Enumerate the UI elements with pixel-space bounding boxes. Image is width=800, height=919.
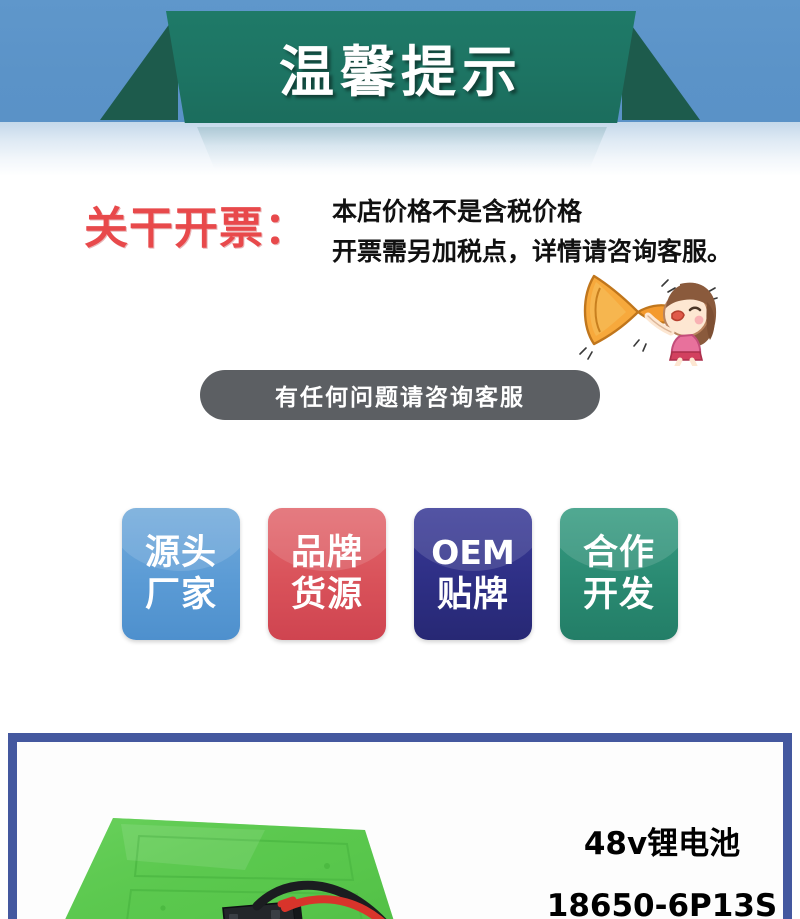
badge-oem[interactable]: OEM 贴牌 bbox=[414, 508, 532, 640]
badge-line-1: 合作 bbox=[583, 532, 655, 574]
badge-source-factory[interactable]: 源头 厂家 bbox=[122, 508, 240, 640]
product-model: 18650-6P13S bbox=[537, 886, 783, 919]
badge-line-1: 品牌 bbox=[291, 532, 363, 574]
badge-line-2: 开发 bbox=[583, 574, 655, 616]
badge-cooperation[interactable]: 合作 开发 bbox=[560, 508, 678, 640]
contact-service-button[interactable]: 有任何问题请咨询客服 bbox=[200, 370, 600, 420]
product-photo-frame: 48v锂电池 18650-6P13S bbox=[8, 733, 792, 919]
green-lithium-battery-pack-photo bbox=[35, 810, 475, 919]
badge-brand-supply[interactable]: 品牌 货源 bbox=[268, 508, 386, 640]
product-text-block: 48v锂电池 18650-6P13S bbox=[537, 824, 783, 919]
invoice-notice-body: 本店价格不是含税价格 开票需另加税点，详情请咨询客服。 bbox=[332, 192, 732, 272]
feature-badges: 源头 厂家 品牌 货源 OEM 贴牌 合作 开发 bbox=[0, 508, 800, 640]
header-banner: 温馨提示 bbox=[0, 0, 800, 176]
badge-line-2: 货源 bbox=[291, 574, 363, 616]
badge-line-2: 贴牌 bbox=[437, 574, 509, 616]
ribbon-reflection bbox=[184, 127, 620, 169]
invoice-notice-line-1: 本店价格不是含税价格 bbox=[332, 192, 732, 232]
product-photo-inner: 48v锂电池 18650-6P13S bbox=[17, 742, 783, 919]
cta-row: 有任何问题请咨询客服 bbox=[0, 370, 800, 420]
product-title: 48v锂电池 bbox=[537, 824, 783, 864]
banner-title: 温馨提示 bbox=[166, 11, 636, 123]
badge-line-1: OEM bbox=[431, 532, 514, 574]
badge-line-2: 厂家 bbox=[145, 574, 217, 616]
badge-line-1: 源头 bbox=[145, 532, 217, 574]
megaphone-girl-icon bbox=[576, 262, 726, 366]
invoice-notice-heading: 关干开票： bbox=[84, 192, 309, 256]
